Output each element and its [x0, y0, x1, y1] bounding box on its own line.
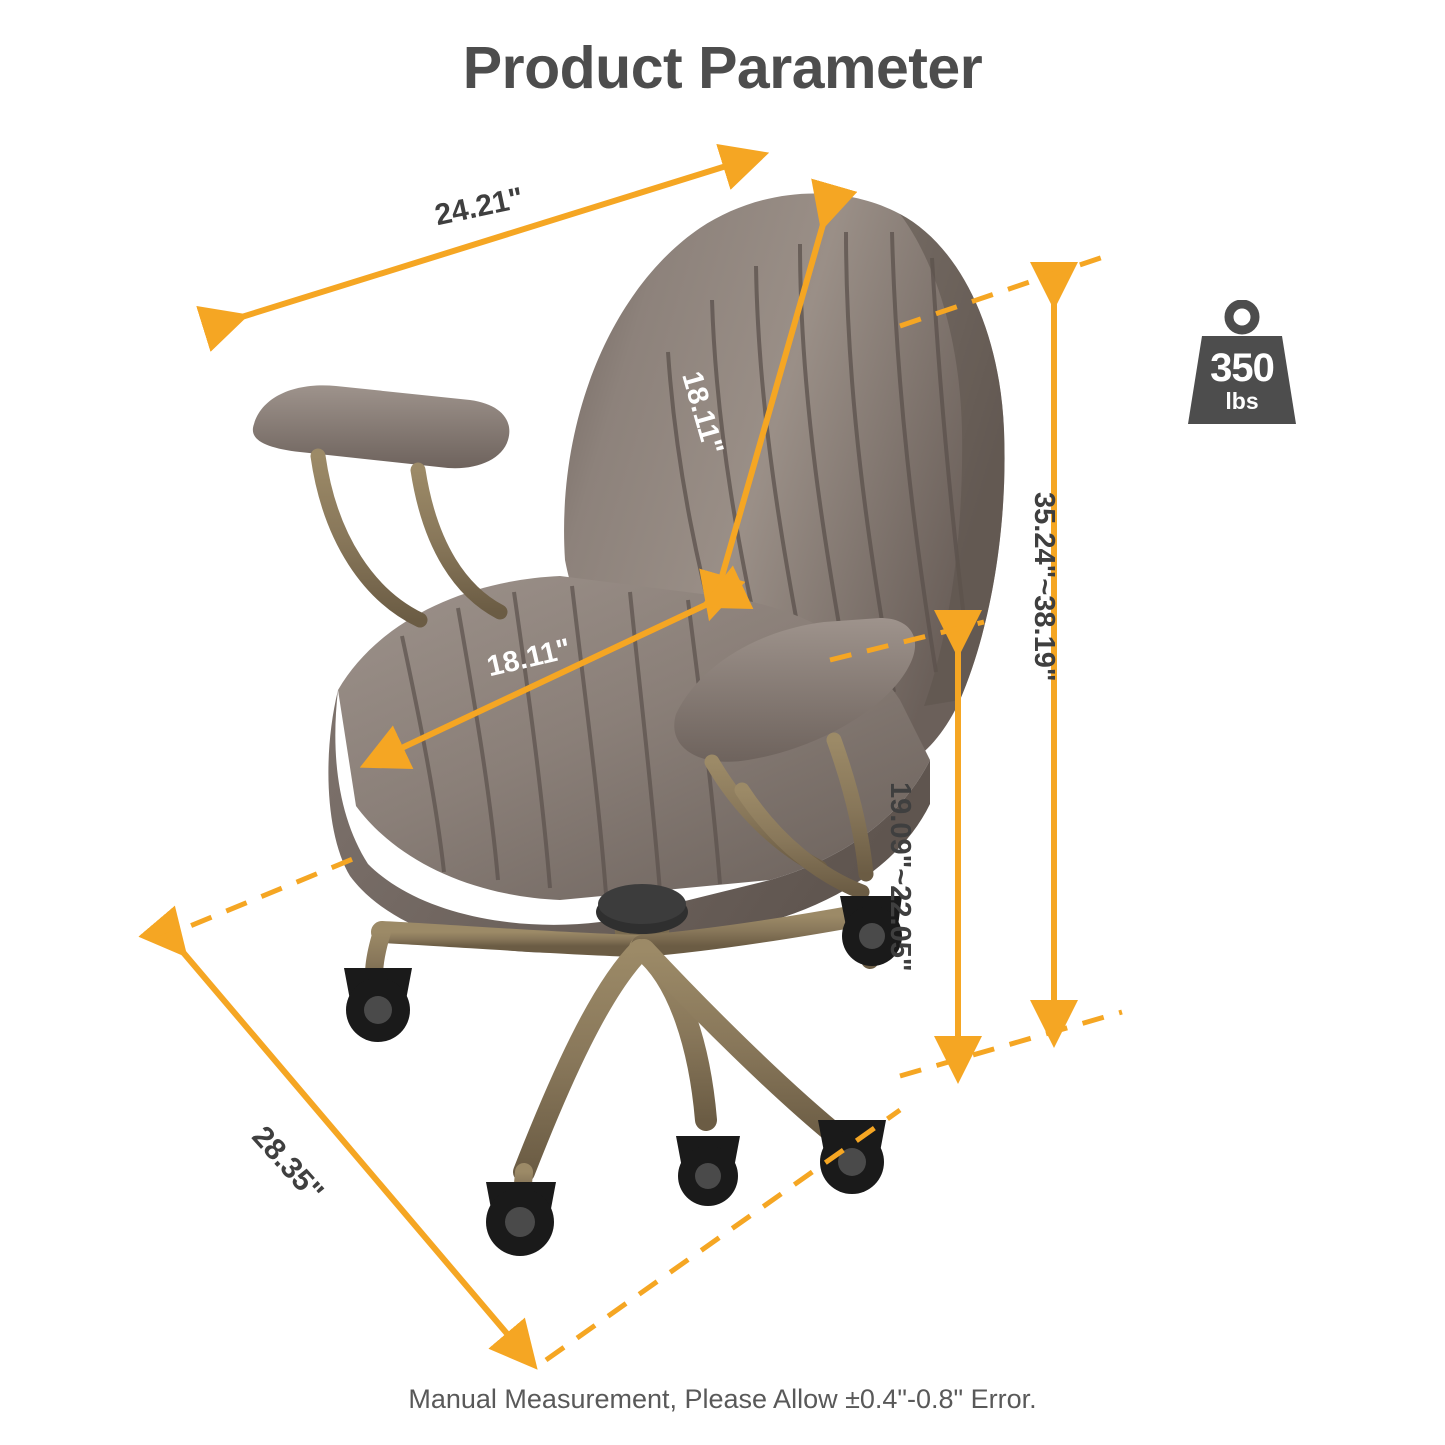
dim-label-seat-depth: 18.11" — [484, 633, 574, 684]
measurement-footnote: Manual Measurement, Please Allow ±0.4"-0… — [0, 1384, 1445, 1415]
dim-label-overall-depth: 28.35" — [245, 1120, 330, 1209]
weight-capacity-badge: 350 lbs — [1182, 300, 1302, 428]
dim-arrow-width — [232, 158, 752, 320]
dim-arrow-depth — [156, 856, 900, 1360]
dim-arrow-backrest — [714, 214, 826, 604]
dim-label-overall-height: 35.24"~38.19" — [1027, 492, 1060, 682]
dim-arrow-seat-depth — [376, 600, 716, 760]
page-title: Product Parameter — [0, 34, 1445, 102]
dim-label-seat-height: 19.09"~22.05" — [883, 782, 916, 972]
dim-label-overall-width: 24.21" — [432, 181, 526, 233]
dim-label-backrest-height: 18.11" — [674, 368, 729, 459]
weight-unit: lbs — [1182, 388, 1302, 415]
chair-illustration — [0, 0, 1445, 1445]
dim-arrow-overall-height — [900, 254, 1122, 1076]
dimension-annotations — [0, 0, 1445, 1445]
weight-value: 350 — [1182, 346, 1302, 391]
product-parameter-diagram: Product Parameter — [0, 0, 1445, 1445]
